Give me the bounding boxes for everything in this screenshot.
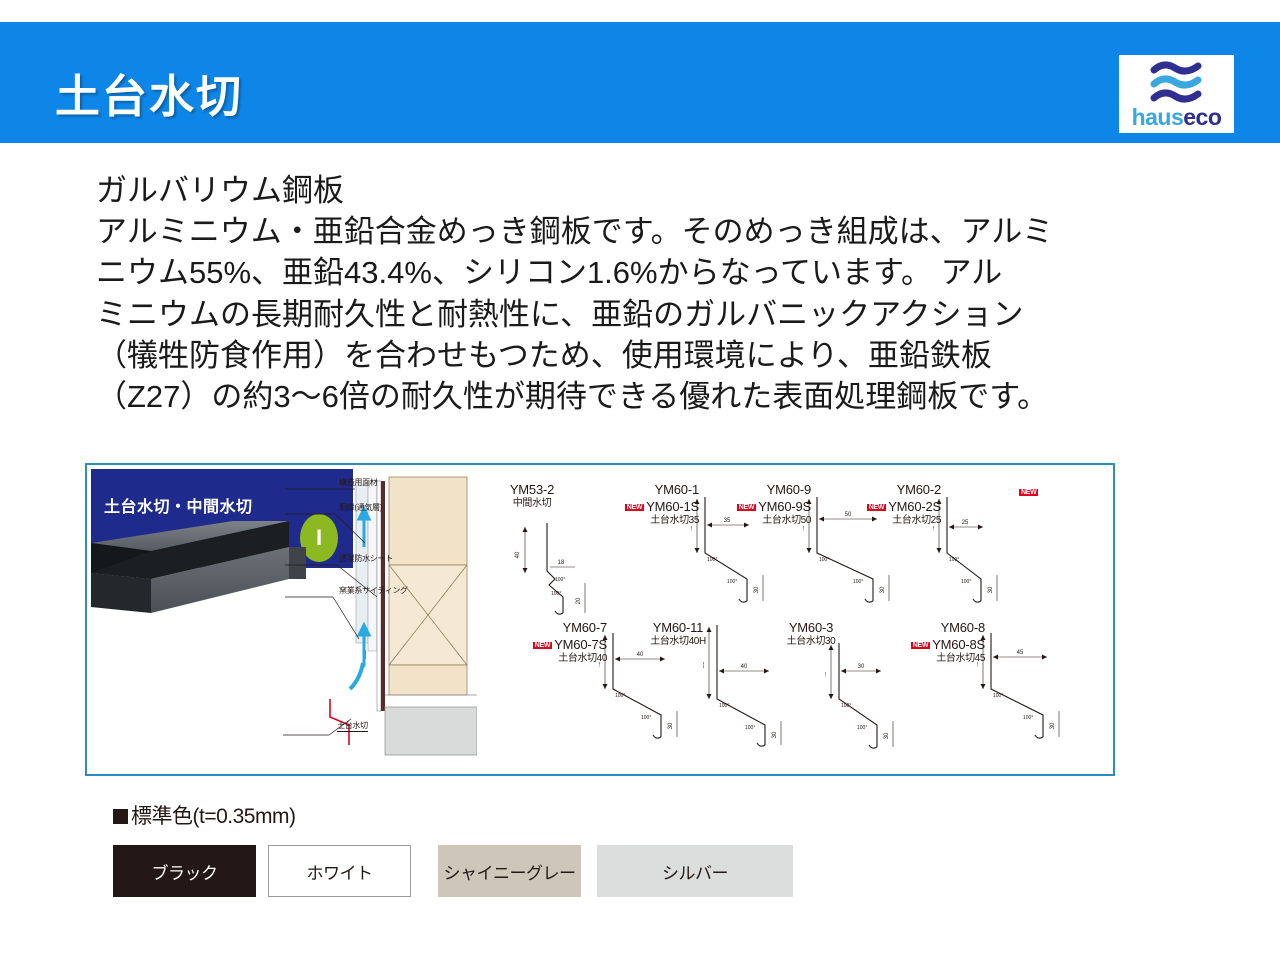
svg-text:100°: 100° (993, 693, 1003, 699)
svg-text:100°: 100° (819, 557, 829, 563)
profile-YM60-1: YM60-1 NEWYM60-1S 土台水切35 40 35 100° 100°… (587, 483, 699, 527)
new-badge: NEW (533, 642, 552, 650)
swatch-black[interactable]: ブラック (113, 845, 256, 897)
profile-code: YM60-9 (699, 483, 811, 498)
swatch-label: シルバー (662, 859, 728, 884)
svg-text:100°: 100° (555, 577, 565, 583)
product-photo-caption: 土台水切・中間水切 (104, 493, 253, 517)
logo-text-haus: haus (1132, 104, 1184, 130)
svg-text:40: 40 (637, 652, 644, 658)
svg-text:100°: 100° (719, 703, 729, 709)
swatch-shiny-gray[interactable]: シャイニーグレー (438, 845, 581, 897)
diagram-panel: 土台水切・中間水切 I (85, 463, 1115, 776)
bullet-square-icon (113, 809, 128, 824)
svg-text:30: 30 (884, 732, 890, 739)
profile-YM60-11: YM60-11 土台水切40H 60 40 100° 100° 30 (625, 621, 731, 647)
body-line-4: ミニウムの長期耐久性と耐熱性に、亜鉛のガルバニックアクション (96, 294, 1106, 335)
profile-drawing: 40 45 100° 100° 30 (977, 627, 1097, 745)
svg-text:40: 40 (803, 525, 806, 532)
body-line-3: ニウム55%、亜鉛43.4%、シリコン1.6%からなっています。 アル (96, 252, 1106, 293)
profile-YM60-2: YM60-2 NEWYM60-2S 土台水切25 NEW 40 25 100° … (829, 483, 941, 527)
profile-code: YM60-1 (587, 483, 699, 498)
profile-sub: 土台水切40 (495, 653, 607, 664)
svg-text:30: 30 (772, 731, 778, 738)
body-line-1: ガルバリウム鋼板 (96, 170, 1106, 211)
svg-text:18: 18 (558, 560, 565, 566)
swatch-silver[interactable]: シルバー (597, 845, 793, 897)
profile-code: YM53-2 (487, 483, 577, 498)
svg-text:45: 45 (1017, 650, 1024, 656)
profile-YM60-9: YM60-9 NEWYM60-9S 土台水切50 40 50 100° 100°… (699, 483, 811, 527)
svg-text:40: 40 (933, 525, 936, 532)
svg-text:100°: 100° (707, 557, 717, 563)
body-line-6: （Z27）の約3～6倍の耐久性が期待できる優れた表面処理鋼板です。 (96, 376, 1106, 417)
new-badge: NEW (867, 504, 886, 512)
svg-text:40: 40 (741, 664, 748, 670)
swatch-label: ブラック (152, 859, 218, 884)
svg-text:30: 30 (668, 722, 674, 729)
profile-YM60-3: YM60-3 土台水切30 40 30 100° 100° 30 (767, 621, 855, 647)
logo-text-eco: eco (1183, 104, 1221, 130)
svg-text:30: 30 (858, 664, 865, 670)
page-title: 土台水切 (55, 60, 243, 125)
swatch-heading: 標準色(t=0.35mm) (113, 800, 295, 830)
svg-text:100°: 100° (1023, 715, 1033, 721)
profile-sub: 土台水切25 (829, 515, 941, 526)
svg-text:40: 40 (599, 661, 602, 668)
swatch-label: ホワイト (307, 859, 373, 884)
svg-text:100°: 100° (949, 557, 959, 563)
callout-bottom: 土台水切 (337, 720, 368, 732)
profile-code: YM60-8 (873, 621, 985, 636)
profile-code-alt-row: NEWYM60-9S (699, 498, 811, 516)
callout-4: 窯業系サイディング (339, 585, 408, 596)
profile-diagram-grid: YM53-2 中間水切 40 18 100° 100° 20 YM60-1 NE… (477, 473, 1107, 763)
svg-text:40: 40 (515, 551, 521, 558)
svg-text:100°: 100° (745, 725, 755, 731)
body-line-5: （犠牲防食作用）を合わせもつため、使用環境により、亜鉛鉄板 (96, 335, 1106, 376)
profile-code-alt-row: NEWYM60-1S (587, 498, 699, 516)
logo-waves-icon (1142, 61, 1212, 109)
new-badge: NEW (625, 504, 644, 512)
svg-text:100°: 100° (853, 579, 863, 585)
svg-text:100°: 100° (841, 703, 851, 709)
svg-text:100°: 100° (961, 579, 971, 585)
callout-3: 透湿防水シート (339, 553, 393, 564)
profile-drawing: 40 25 100° 100° 30 (933, 491, 1043, 609)
svg-text:30: 30 (880, 586, 886, 593)
profile-code-alt-row: NEWYM60-8S (873, 636, 985, 654)
swatch-heading-text: 標準色(t=0.35mm) (131, 805, 295, 828)
svg-text:40: 40 (825, 671, 828, 678)
callout-1: 構造用面材 (339, 477, 378, 488)
new-badge: NEW (911, 642, 930, 650)
profile-YM60-7: YM60-7 NEWYM60-7S 土台水切40 40 40 100° 100°… (495, 621, 607, 665)
svg-text:100°: 100° (857, 725, 867, 731)
profile-sub: 土台水切45 (873, 653, 985, 664)
svg-text:20: 20 (576, 597, 582, 604)
svg-text:100°: 100° (551, 591, 561, 597)
profile-code-alt-row: NEWYM60-7S (495, 636, 607, 654)
svg-text:30: 30 (1050, 722, 1056, 729)
callout-2: 胴縁(通気層) (339, 502, 382, 513)
swatch-label: シャイニーグレー (444, 859, 576, 884)
profile-code: YM60-3 (767, 621, 855, 636)
svg-text:100°: 100° (727, 579, 737, 585)
swatch-white[interactable]: ホワイト (268, 845, 411, 897)
body-line-2: アルミニウム・亜鉛合金めっき鋼板です。そのめっき組成は、アルミ (96, 211, 1106, 252)
logo-text: hauseco (1119, 106, 1234, 129)
profile-sub: 土台水切35 (587, 515, 699, 526)
profile-YM60-8: YM60-8 NEWYM60-8S 土台水切45 40 45 100° 100°… (873, 621, 985, 665)
profile-code: YM60-2 (829, 483, 941, 498)
new-badge: NEW (737, 504, 756, 512)
svg-text:100°: 100° (641, 715, 651, 721)
profile-YM53-2: YM53-2 中間水切 40 18 100° 100° 20 (487, 483, 577, 509)
svg-text:30: 30 (754, 586, 760, 593)
svg-text:30: 30 (988, 586, 994, 593)
svg-text:40: 40 (691, 525, 694, 532)
svg-text:40: 40 (977, 661, 980, 668)
profile-drawing: 40 18 100° 100° 20 (505, 519, 615, 619)
hauseco-logo: hauseco (1119, 55, 1234, 133)
svg-text:100°: 100° (615, 693, 625, 699)
profile-code-alt-row: NEWYM60-2S (829, 498, 941, 516)
svg-text:25: 25 (962, 520, 969, 526)
profile-sub: 土台水切50 (699, 515, 811, 526)
svg-text:60: 60 (703, 661, 706, 668)
profile-sub: 中間水切 (487, 498, 577, 509)
body-copy: ガルバリウム鋼板 アルミニウム・亜鉛合金めっき鋼板です。そのめっき組成は、アルミ… (96, 170, 1106, 417)
profile-code: YM60-7 (495, 621, 607, 636)
